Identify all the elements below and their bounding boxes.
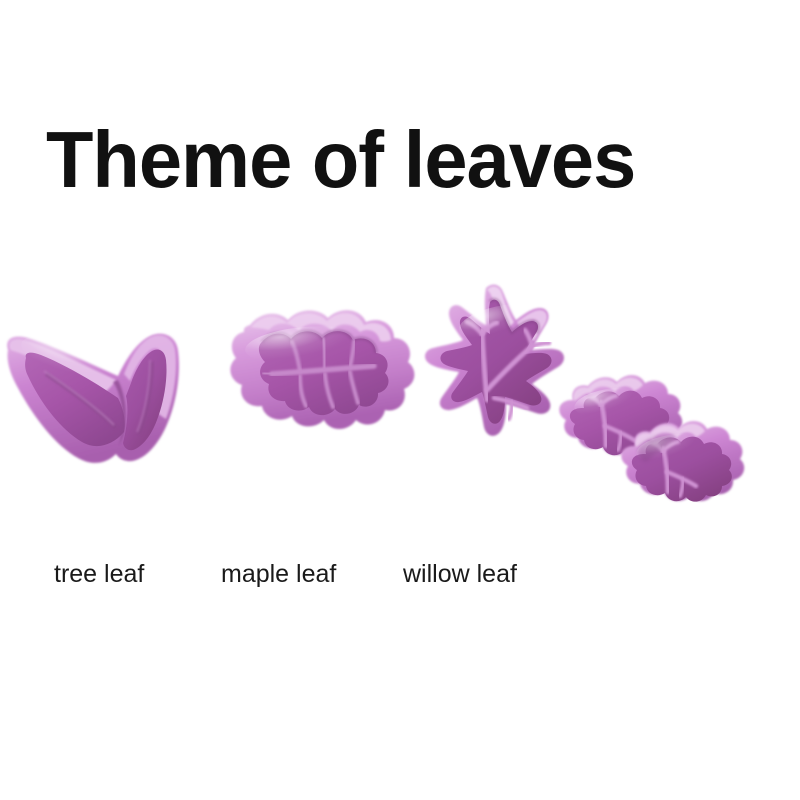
product-photo-page: Theme of leaves xyxy=(0,0,800,800)
caption-willow-leaf: willow leaf xyxy=(403,560,517,588)
caption-tree-leaf: tree leaf xyxy=(54,560,144,588)
page-title: Theme of leaves xyxy=(46,118,635,202)
product-image xyxy=(0,250,800,550)
caption-maple-leaf: maple leaf xyxy=(221,560,336,588)
willow-leaf-cutter xyxy=(425,285,564,436)
tree-leaf-cutter xyxy=(7,326,179,463)
stacked-leaf-front xyxy=(621,421,744,502)
maple-leaf-cutter xyxy=(230,310,414,429)
stacked-leaf-cutter xyxy=(559,375,744,502)
